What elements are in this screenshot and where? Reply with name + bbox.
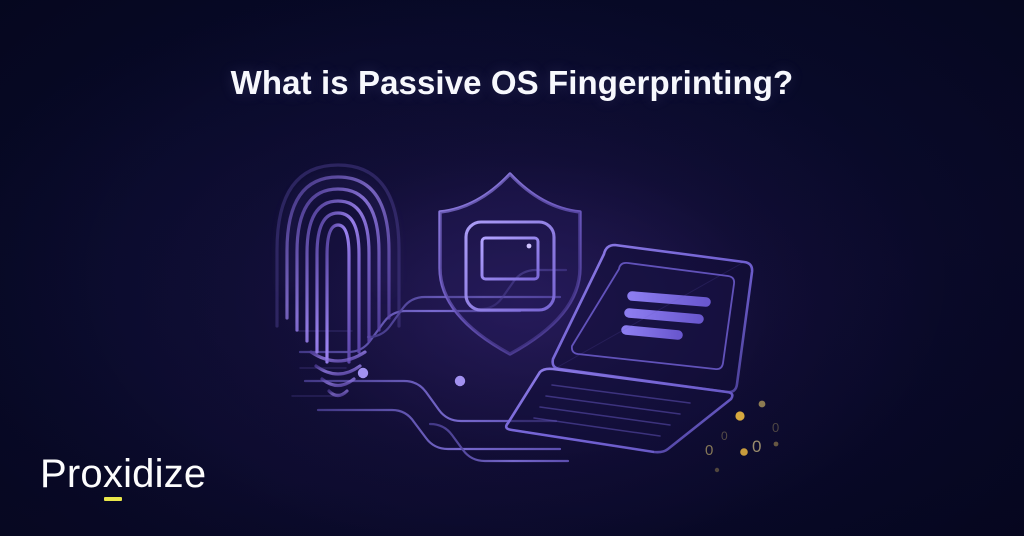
brand-name-x-accent: x <box>103 454 123 494</box>
binary-digit: 0 <box>772 420 779 435</box>
binary-digit: 0 <box>752 437 761 456</box>
banner: 0 0 0 0 What is Passive OS Fingerprintin… <box>0 0 1024 536</box>
circuit-node <box>455 376 465 386</box>
page-title: What is Passive OS Fingerprinting? <box>0 64 1024 102</box>
brand-logo[interactable]: Proxidize <box>40 454 206 494</box>
brand-name-part1: Pro <box>40 452 103 496</box>
monitor-indicator-dot <box>527 244 532 249</box>
brand-logo-text: Proxidize <box>40 454 206 494</box>
circuit-node <box>358 368 368 378</box>
binary-digit: 0 <box>721 429 728 443</box>
binary-digit: 0 <box>705 442 713 459</box>
brand-name-part2: idize <box>123 452 206 496</box>
